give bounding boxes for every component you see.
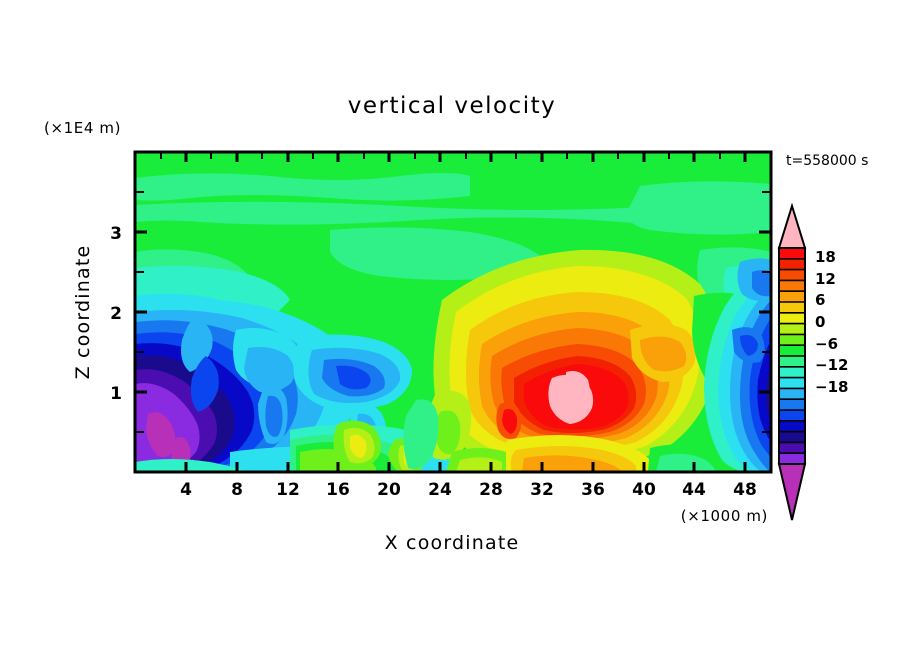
x-tick-label: 20	[377, 480, 401, 500]
x-tick-label: 16	[326, 480, 350, 500]
x-tick-label: 24	[428, 480, 452, 500]
colorbar-label: 6	[815, 291, 825, 309]
colorbar-label: −6	[815, 335, 838, 353]
y-tick-label: 3	[110, 224, 122, 244]
y-tick-label: 2	[110, 304, 122, 324]
colorbar-label: 0	[815, 313, 825, 331]
y-axis-unit-label: (×1E4 m)	[44, 119, 121, 137]
x-tick-label: 44	[682, 480, 706, 500]
time-annotation: t=558000 s	[786, 153, 868, 169]
x-tick-label: 28	[479, 480, 503, 500]
vertical-velocity-contour-plot: vertical velocity (×1E4 m)	[0, 0, 904, 654]
x-axis-title: X coordinate	[385, 532, 520, 554]
x-tick-label: 48	[733, 480, 757, 500]
colorbar-label: −18	[815, 378, 848, 396]
y-tick-label: 1	[110, 384, 122, 404]
x-tick-label: 40	[632, 480, 656, 500]
colorbar-label: 18	[815, 248, 836, 266]
x-tick-label: 4	[180, 480, 192, 500]
page-title: vertical velocity	[348, 93, 556, 119]
contour-field	[135, 152, 771, 472]
x-tick-label: 32	[530, 480, 554, 500]
x-tick-label: 8	[231, 480, 243, 500]
x-tick-label: 12	[276, 480, 300, 500]
colorbar-label: 12	[815, 270, 836, 288]
x-tick-label: 36	[581, 480, 605, 500]
y-axis-title: Z coordinate	[72, 245, 94, 380]
plot-svg: vertical velocity (×1E4 m)	[0, 0, 904, 654]
x-axis-unit-label: (×1000 m)	[681, 507, 768, 525]
colorbar-label: −12	[815, 356, 848, 374]
